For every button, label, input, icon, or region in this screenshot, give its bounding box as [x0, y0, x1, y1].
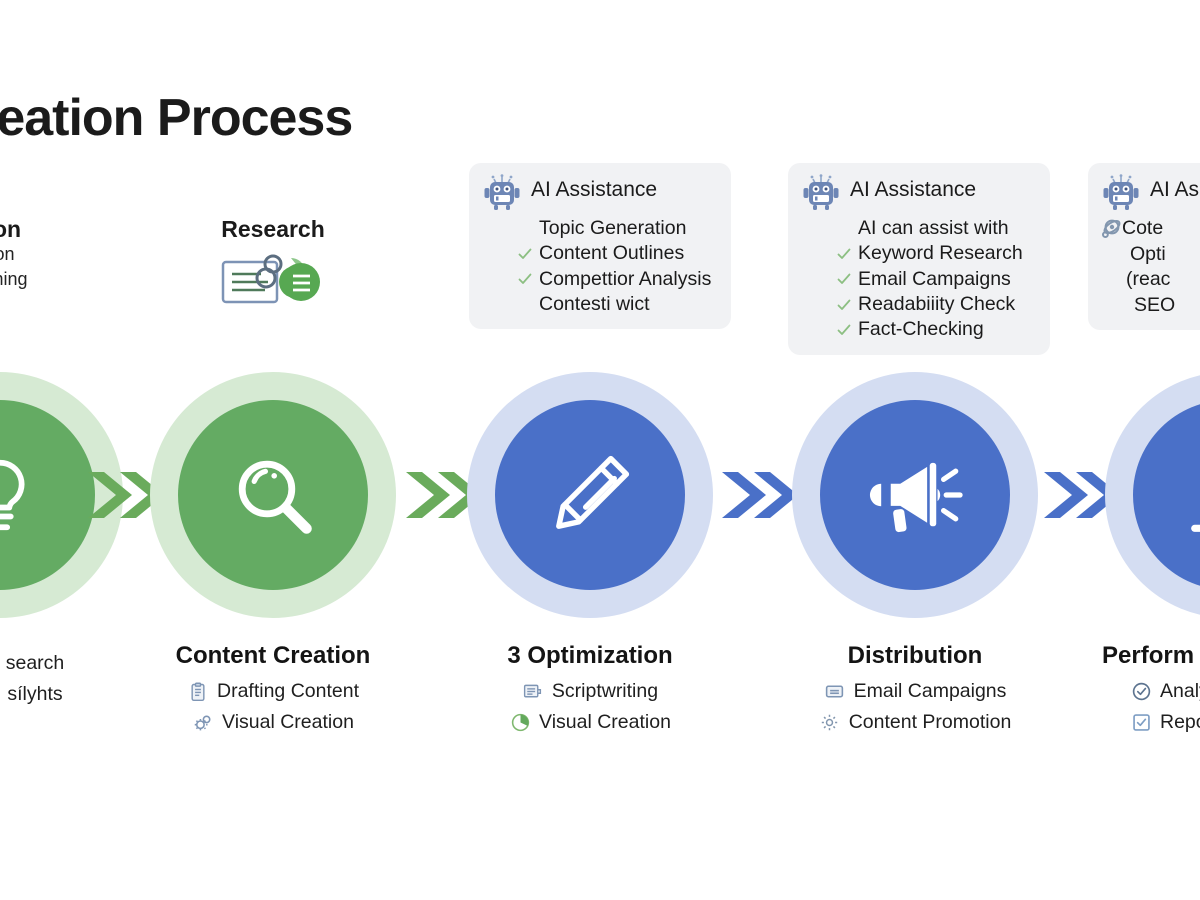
- research-docs-icon: [113, 248, 433, 310]
- atom-icon: [1100, 216, 1116, 242]
- check-icon: [836, 271, 852, 287]
- ai-assistance-card-2: AI Assistance AI can assist with Keyword…: [788, 163, 1050, 355]
- optimization-title: 3 Optimization: [430, 642, 750, 670]
- lightbulb-icon: [0, 452, 43, 538]
- ai-card-item-label: Readabiiity Check: [858, 292, 1015, 317]
- list-item-label: Scriptwriting: [552, 676, 658, 707]
- stage-column-research: Research: [113, 0, 433, 900]
- ai-card-heading: AI Assistance: [850, 173, 976, 201]
- ai-card-item-label: Cote: [1122, 216, 1163, 241]
- ai-card-header: AI Assistance: [800, 173, 1038, 215]
- list-item: Visual Creation: [113, 707, 433, 738]
- ai-card-list: AI can assist with Keyword Research Emai…: [800, 216, 1038, 343]
- chart-icon: [1178, 445, 1200, 545]
- research-bottom-block: Content Creation Drafting Content: [113, 642, 433, 738]
- distribution-bottom-block: Distribution Email Campaigns: [755, 642, 1075, 738]
- ai-card-item-label: Fact-Checking: [858, 317, 984, 342]
- ai-card-item: Cote: [1100, 216, 1200, 242]
- ai-card-item: Topic Generation: [517, 216, 719, 241]
- ai-card-item-label: (reac: [1126, 267, 1170, 292]
- ai-card-list: Topic Generation Content Outlines Compet…: [481, 216, 719, 317]
- distribution-circle[interactable]: [820, 400, 1010, 590]
- list-item-label: Content Promotion: [849, 707, 1012, 738]
- list-item: Scriptwriting: [430, 676, 750, 707]
- check-icon: [836, 297, 852, 313]
- performance-title: Perform: [1102, 642, 1200, 670]
- check-icon: [836, 322, 852, 338]
- check-icon: [517, 246, 533, 262]
- pen-icon: [538, 443, 642, 547]
- check-icon: [517, 271, 533, 287]
- ai-card-item-label: Compettior Analysis: [539, 267, 711, 292]
- gears-icon: [192, 712, 214, 734]
- ai-card-item: Compettior Analysis: [517, 267, 719, 292]
- research-circle-halo: [150, 372, 396, 618]
- list-item: Repo: [1102, 707, 1200, 738]
- ai-card-item: Fact-Checking: [836, 317, 1038, 342]
- list-item: Visual Creation: [430, 707, 750, 738]
- list-item-label: Visual Creation: [539, 707, 671, 738]
- list-item-label: Visual Creation: [222, 707, 354, 738]
- research-top-block: Research: [113, 216, 433, 310]
- robot-icon: [800, 173, 842, 215]
- ai-card-item-label: Email Campaigns: [858, 267, 1011, 292]
- list-item: Drafting Content: [113, 676, 433, 707]
- ai-card-item-label: Topic Generation: [539, 216, 686, 241]
- research-circle[interactable]: [178, 400, 368, 590]
- megaphone-icon: [863, 443, 967, 547]
- piechart-icon: [509, 712, 531, 734]
- list-item-label: Analy: [1160, 676, 1200, 707]
- ai-card-item-label: SEO: [1134, 293, 1175, 318]
- ai-card-item-label: AI can assist with: [858, 216, 1009, 241]
- research-top-title: Research: [113, 216, 433, 242]
- list-item: Analy: [1102, 676, 1200, 707]
- ai-card-item: Opti: [1100, 242, 1200, 267]
- ai-card-item-label: Keyword Research: [858, 241, 1023, 266]
- script-icon: [522, 681, 544, 703]
- ai-card-item-label: Contesti wict: [539, 292, 650, 317]
- ai-card-item: Content Outlines: [517, 241, 719, 266]
- ai-card-header: AI Assistance: [481, 173, 719, 215]
- ai-card-item: Readabiiity Check: [836, 292, 1038, 317]
- robot-icon: [481, 173, 523, 215]
- ai-card-heading: AI As: [1150, 173, 1199, 201]
- ai-card-item: SEO: [1100, 293, 1200, 318]
- email-icon: [824, 681, 846, 703]
- content-creation-circle[interactable]: [495, 400, 685, 590]
- ai-card-header: AI As: [1100, 173, 1200, 215]
- ai-assistance-card-3: AI As Cote Opti: [1088, 163, 1200, 330]
- content-creation-title: Content Creation: [113, 642, 433, 670]
- infographic-canvas: nt Creation Process tion tion orming sea…: [0, 0, 1200, 900]
- ai-card-item: (reac: [1100, 267, 1200, 292]
- optimization-bottom-block: 3 Optimization Scriptwriting: [430, 642, 750, 738]
- check-circle-icon: [1130, 681, 1152, 703]
- list-item: Content Promotion: [755, 707, 1075, 738]
- ai-card-item: Email Campaigns: [836, 267, 1038, 292]
- distribution-title: Distribution: [755, 642, 1075, 670]
- ai-card-item-label: Content Outlines: [539, 241, 684, 266]
- robot-icon: [1100, 173, 1142, 215]
- distribution-circle-halo: [792, 372, 1038, 618]
- ai-assistance-card-1: AI Assistance Topic Generation Content O…: [469, 163, 731, 329]
- stage-column-performance: AI As Cote Opti: [1068, 0, 1200, 900]
- ai-card-item: AI can assist with: [836, 216, 1038, 241]
- stage-column-content-creation: AI Assistance Topic Generation Content O…: [430, 0, 750, 900]
- promotion-gear-icon: [819, 712, 841, 734]
- clipboard-icon: [187, 681, 209, 703]
- list-item-label: Repo: [1160, 707, 1200, 738]
- list-item-label: search: [6, 648, 65, 679]
- performance-bottom-block: Perform Analy Repo: [1068, 642, 1200, 738]
- check-icon: [836, 246, 852, 262]
- list-item-label: Email Campaigns: [854, 676, 1007, 707]
- ai-card-item-label: Opti: [1130, 242, 1166, 267]
- list-item: Email Campaigns: [755, 676, 1075, 707]
- ideation-circle[interactable]: [0, 400, 95, 590]
- list-item-label: sílyhts: [7, 679, 62, 710]
- stage-column-distribution: AI Assistance AI can assist with Keyword…: [755, 0, 1075, 900]
- check-box-icon: [1130, 712, 1152, 734]
- performance-circle-halo: [1105, 372, 1200, 618]
- content-creation-circle-halo: [467, 372, 713, 618]
- ai-card-heading: AI Assistance: [531, 173, 657, 201]
- ai-card-item: Contesti wict: [517, 292, 719, 317]
- magnifier-icon: [225, 447, 321, 543]
- list-item-label: Drafting Content: [217, 676, 359, 707]
- ai-card-item: Keyword Research: [836, 241, 1038, 266]
- ai-card-list: Cote Opti (reac SEO: [1100, 216, 1200, 318]
- performance-circle[interactable]: [1133, 400, 1200, 590]
